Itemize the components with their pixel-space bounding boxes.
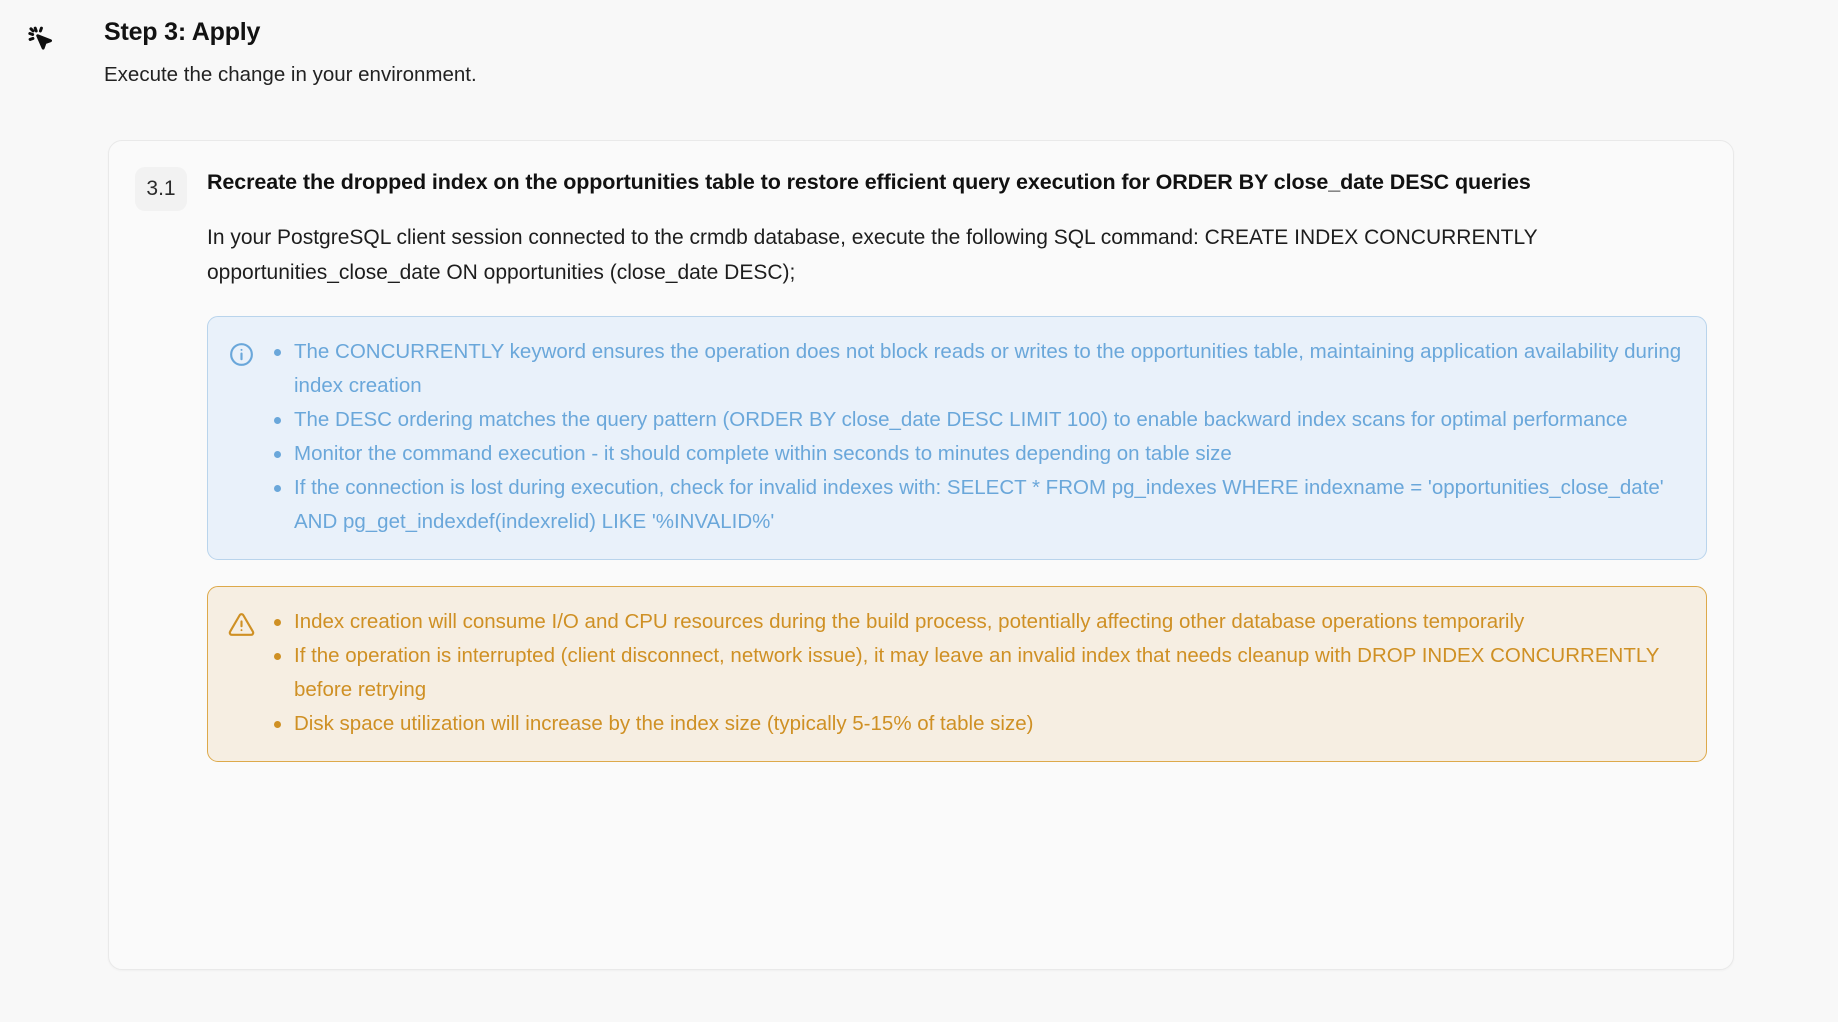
- step-header: Step 3: Apply Execute the change in your…: [0, 0, 1838, 90]
- warning-triangle-icon: [226, 609, 256, 639]
- info-callout-list: The CONCURRENTLY keyword ensures the ope…: [272, 335, 1684, 539]
- substep-number-badge: 3.1: [135, 167, 187, 211]
- list-item: If the connection is lost during executi…: [272, 471, 1684, 539]
- page-subtitle: Execute the change in your environment.: [104, 60, 477, 90]
- substep-card: 3.1 Recreate the dropped index on the op…: [108, 140, 1734, 970]
- substep-description: In your PostgreSQL client session connec…: [207, 220, 1607, 290]
- substep-title: Recreate the dropped index on the opport…: [207, 165, 1627, 200]
- mouse-pointer-click-icon: [22, 20, 62, 60]
- step-header-text: Step 3: Apply Execute the change in your…: [104, 16, 477, 90]
- info-callout: The CONCURRENTLY keyword ensures the ope…: [207, 316, 1707, 560]
- info-circle-icon: [226, 339, 256, 369]
- list-item: Monitor the command execution - it shoul…: [272, 437, 1684, 471]
- page-title: Step 3: Apply: [104, 16, 477, 48]
- list-item: The CONCURRENTLY keyword ensures the ope…: [272, 335, 1684, 403]
- warning-callout-list: Index creation will consume I/O and CPU …: [272, 605, 1684, 741]
- list-item: Index creation will consume I/O and CPU …: [272, 605, 1684, 639]
- list-item: The DESC ordering matches the query patt…: [272, 403, 1684, 437]
- list-item: Disk space utilization will increase by …: [272, 707, 1684, 741]
- substep-body: Recreate the dropped index on the opport…: [207, 165, 1707, 762]
- list-item: If the operation is interrupted (client …: [272, 639, 1684, 707]
- page-root: Step 3: Apply Execute the change in your…: [0, 0, 1838, 1022]
- warning-callout: Index creation will consume I/O and CPU …: [207, 586, 1707, 762]
